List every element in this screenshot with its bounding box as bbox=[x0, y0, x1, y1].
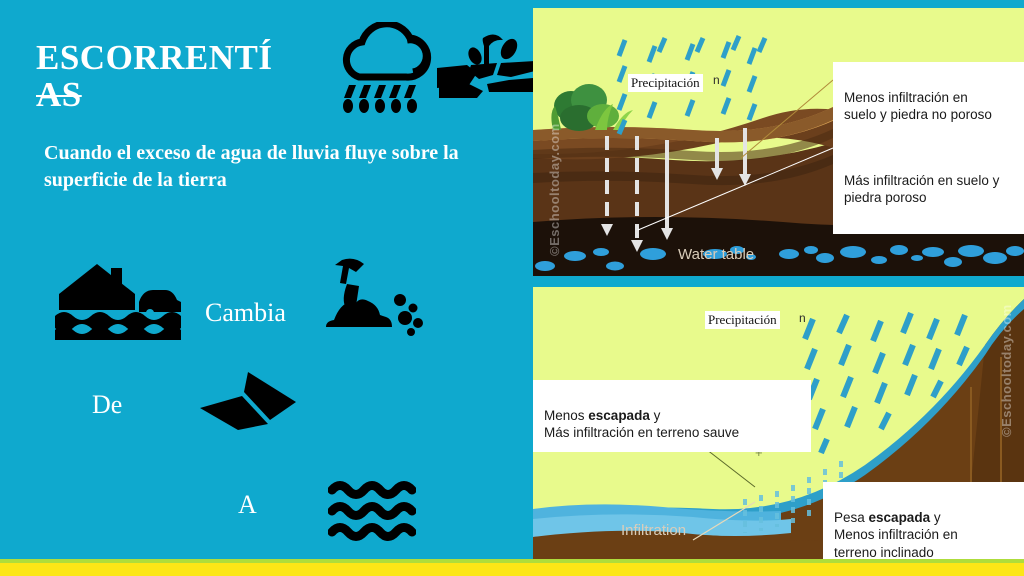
label-a: A bbox=[238, 490, 257, 520]
precipitation-ghost-top: n bbox=[713, 73, 720, 87]
callout-left-bold: escapada bbox=[588, 408, 650, 423]
infiltration-diagram-flat: ©Eschooltoday.com Precipitación n Water … bbox=[533, 8, 1024, 276]
precipitation-ghost-bottom: n bbox=[799, 311, 806, 325]
watermark-top: ©Eschooltoday.com bbox=[547, 123, 562, 256]
page-title-line1: ESCORRENTÍ bbox=[36, 38, 272, 77]
accent-bar bbox=[0, 563, 1024, 576]
page-title-line2: AS bbox=[36, 75, 82, 114]
callout-left-pre: Menos bbox=[544, 408, 588, 423]
label-cambia: Cambia bbox=[205, 298, 286, 328]
drought-cracked-earth-icon bbox=[437, 32, 535, 98]
watermark-bottom: ©Eschooltoday.com bbox=[999, 304, 1014, 437]
callout-text-2: Más infiltración en suelo y piedra poros… bbox=[844, 172, 1018, 207]
flooded-house-car-icon bbox=[55, 258, 183, 343]
label-de: De bbox=[92, 390, 122, 420]
callout-right-bold: escapada bbox=[869, 510, 931, 525]
precipitation-label-bottom: Precipitación bbox=[705, 311, 780, 329]
runoff-diagram-slope: ©Eschooltoday.com Precipitación n + Infi… bbox=[533, 287, 1024, 563]
callout-less-runoff: Menos escapada y Más infiltración en ter… bbox=[533, 380, 811, 452]
water-table-label: Water table bbox=[678, 246, 754, 263]
water-waves-icon bbox=[328, 478, 416, 544]
page-title: ESCORRENTÍ AS bbox=[36, 40, 336, 114]
callout-more-runoff: Pesa escapada y Menos infiltración en te… bbox=[823, 482, 1024, 563]
rain-cloud-icon bbox=[333, 22, 441, 114]
callout-less-infiltration: Menos infiltración en suelo y piedra no … bbox=[833, 62, 1024, 234]
page-subtitle: Cuando el exceso de agua de lluvia fluye… bbox=[44, 140, 514, 194]
shovel-erosion-icon bbox=[318, 258, 428, 343]
land-terrain-icon bbox=[198, 370, 300, 432]
callout-text-1: Menos infiltración en suelo y piedra no … bbox=[844, 89, 1018, 124]
infiltration-label: Infiltration bbox=[621, 522, 686, 539]
callout-right-pre: Pesa bbox=[834, 510, 869, 525]
slide-canvas: ESCORRENTÍ AS Cuando el exceso de agua d… bbox=[0, 0, 1024, 576]
precipitation-label-top: Precipitación bbox=[628, 74, 703, 92]
